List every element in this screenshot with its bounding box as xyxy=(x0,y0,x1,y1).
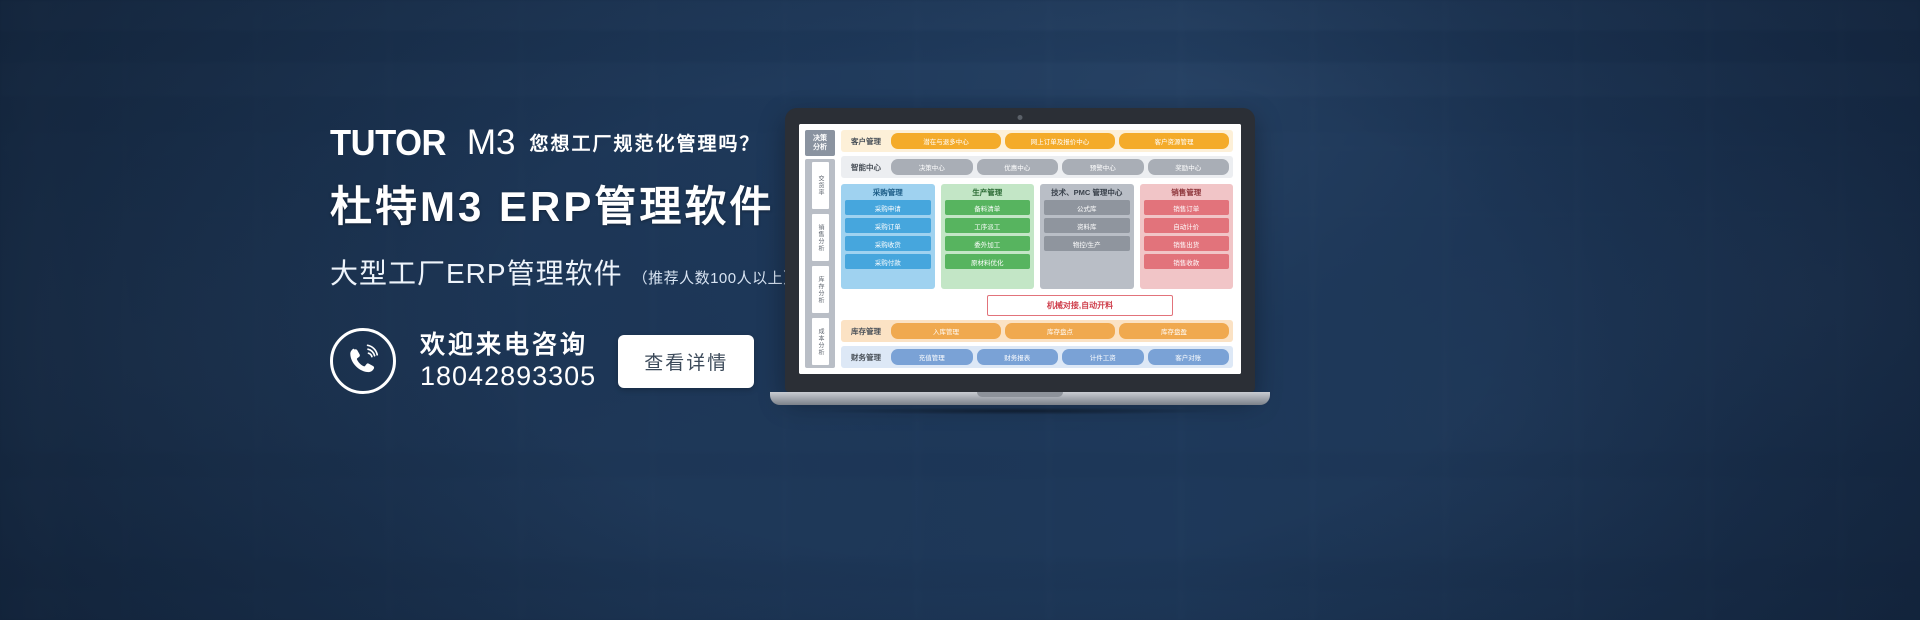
erp-sidebar-header: 决策 分析 xyxy=(805,130,835,156)
erp-sidebar-item[interactable]: 成本分析 xyxy=(812,318,829,365)
phone-call-icon[interactable] xyxy=(330,328,396,394)
contact-label: 欢迎来电咨询 xyxy=(420,330,596,360)
erp-column-title: 技术、PMC 管理中心 xyxy=(1044,188,1130,197)
erp-highlight-row: 机械对接,自动开料 xyxy=(841,295,1233,316)
erp-column-item[interactable]: 自动计价 xyxy=(1144,218,1230,233)
erp-highlight-banner: 机械对接,自动开料 xyxy=(987,295,1173,316)
erp-chip[interactable]: 优惠中心 xyxy=(977,159,1059,175)
erp-chip[interactable]: 网上订单及报价中心 xyxy=(1005,133,1115,149)
erp-module-columns: 采购管理 采购申请 采购订单 采购收货 采购付款 生产管理 备料清单 工序派工 xyxy=(841,182,1233,291)
page-title: 杜特M3 ERP管理软件 xyxy=(330,182,850,232)
erp-chip[interactable]: 奖励中心 xyxy=(1148,159,1230,175)
erp-sidebar-header-line2: 分析 xyxy=(813,143,827,152)
erp-column-item[interactable]: 销售出货 xyxy=(1144,236,1230,251)
hero-text-block: TUTOR M3 您想工厂规范化管理吗？ 杜特M3 ERP管理软件 大型工厂ER… xyxy=(330,120,850,394)
erp-column-item[interactable]: 物控/生产 xyxy=(1044,236,1130,251)
banner-content: TUTOR M3 您想工厂规范化管理吗？ 杜特M3 ERP管理软件 大型工厂ER… xyxy=(0,0,1920,620)
erp-main-area: 客户管理 潜在与退多中心 网上订单及报价中心 客户资源管理 智能中心 决策中心 … xyxy=(835,130,1233,368)
erp-row-customer: 客户管理 潜在与退多中心 网上订单及报价中心 客户资源管理 xyxy=(841,130,1233,152)
erp-chip[interactable]: 计件工资 xyxy=(1062,349,1144,365)
erp-chip[interactable]: 充值管理 xyxy=(891,349,973,365)
erp-chip[interactable]: 库存盘盈 xyxy=(1119,323,1229,339)
hero-subtitle-row: 大型工厂ERP管理软件 （推荐人数100人以上） xyxy=(330,252,850,292)
erp-column-purchase: 采购管理 采购申请 采购订单 采购收货 采购付款 xyxy=(841,184,935,289)
contact-phone-number[interactable]: 18042893305 xyxy=(420,360,596,392)
erp-chip[interactable]: 客户对账 xyxy=(1148,349,1230,365)
erp-row-title: 库存管理 xyxy=(845,326,887,337)
erp-sidebar-header-line1: 决策 xyxy=(813,134,827,143)
laptop-shadow xyxy=(750,407,1290,415)
erp-column-item[interactable]: 采购收货 xyxy=(845,236,931,251)
erp-row-finance: 财务管理 充值管理 财务报表 计件工资 客户对账 xyxy=(841,346,1233,368)
erp-column-item[interactable]: 销售收款 xyxy=(1144,254,1230,269)
erp-chip[interactable]: 客户资源管理 xyxy=(1119,133,1229,149)
brand-tagline: 您想工厂规范化管理吗？ xyxy=(529,132,760,160)
erp-row-title: 客户管理 xyxy=(845,136,887,147)
erp-sidebar: 决策 分析 交货率 销售分析 库存分析 成本分析 xyxy=(805,130,835,368)
hero-subtitle-note: （推荐人数100人以上） xyxy=(633,267,799,288)
erp-column-item[interactable]: 备料清单 xyxy=(945,200,1031,215)
brand-logo-wordmark: TUTOR xyxy=(330,126,446,160)
erp-sidebar-item[interactable]: 销售分析 xyxy=(812,214,829,261)
erp-column-item[interactable]: 工序派工 xyxy=(945,218,1031,233)
erp-row-title: 财务管理 xyxy=(845,352,887,363)
laptop-base xyxy=(770,392,1270,405)
erp-highlight-spacer xyxy=(841,295,927,316)
erp-column-item[interactable]: 委外加工 xyxy=(945,236,1031,251)
erp-sidebar-rail: 交货率 销售分析 库存分析 成本分析 xyxy=(805,159,835,368)
erp-chip[interactable]: 入库管理 xyxy=(891,323,1001,339)
brand-logo: TUTOR M3 您想工厂规范化管理吗？ xyxy=(330,120,850,160)
erp-chip[interactable]: 预警中心 xyxy=(1062,159,1144,175)
erp-column-item[interactable]: 销售订单 xyxy=(1144,200,1230,215)
erp-chip[interactable]: 潜在与退多中心 xyxy=(891,133,1001,149)
erp-highlight-inner: 机械对接,自动开料 xyxy=(927,295,1233,316)
erp-column-item[interactable]: 采购订单 xyxy=(845,218,931,233)
erp-column-item[interactable]: 采购付款 xyxy=(845,254,931,269)
laptop-mockup: 决策 分析 交货率 销售分析 库存分析 成本分析 xyxy=(785,108,1255,415)
webcam-dot xyxy=(1018,115,1023,120)
erp-sidebar-item[interactable]: 交货率 xyxy=(812,162,829,209)
hero-subtitle: 大型工厂ERP管理软件 xyxy=(330,252,623,292)
erp-column-item[interactable]: 公式库 xyxy=(1044,200,1130,215)
hero-banner: TUTOR M3 您想工厂规范化管理吗？ 杜特M3 ERP管理软件 大型工厂ER… xyxy=(0,0,1920,620)
erp-chip[interactable]: 财务报表 xyxy=(977,349,1059,365)
erp-column-item[interactable]: 采购申请 xyxy=(845,200,931,215)
contact-block: 欢迎来电咨询 18042893305 查看详情 xyxy=(330,328,850,394)
erp-row-inventory: 库存管理 入库管理 库存盘点 库存盘盈 xyxy=(841,320,1233,342)
erp-architecture-diagram: 决策 分析 交货率 销售分析 库存分析 成本分析 xyxy=(799,124,1241,374)
laptop-notch xyxy=(977,392,1063,397)
laptop-screen: 决策 分析 交货率 销售分析 库存分析 成本分析 xyxy=(799,124,1241,374)
erp-chip[interactable]: 决策中心 xyxy=(891,159,973,175)
erp-column-sales: 销售管理 销售订单 自动计价 销售出货 销售收款 xyxy=(1140,184,1234,289)
erp-column-title: 采购管理 xyxy=(845,188,931,197)
erp-column-tech-pmc: 技术、PMC 管理中心 公式库 资料库 物控/生产 xyxy=(1040,184,1134,289)
brand-logo-model: M3 xyxy=(467,126,516,160)
erp-sidebar-item[interactable]: 库存分析 xyxy=(812,266,829,313)
erp-column-item[interactable]: 原材料优化 xyxy=(945,254,1031,269)
erp-column-production: 生产管理 备料清单 工序派工 委外加工 原材料优化 xyxy=(941,184,1035,289)
erp-chip[interactable]: 库存盘点 xyxy=(1005,323,1115,339)
erp-column-title: 生产管理 xyxy=(945,188,1031,197)
erp-row-smart-center: 智能中心 决策中心 优惠中心 预警中心 奖励中心 xyxy=(841,156,1233,178)
laptop-lid: 决策 分析 交货率 销售分析 库存分析 成本分析 xyxy=(785,108,1255,392)
erp-column-item[interactable]: 资料库 xyxy=(1044,218,1130,233)
erp-row-title: 智能中心 xyxy=(845,162,887,173)
view-details-button[interactable]: 查看详情 xyxy=(618,335,754,388)
erp-column-title: 销售管理 xyxy=(1144,188,1230,197)
contact-text: 欢迎来电咨询 18042893305 xyxy=(420,330,596,392)
